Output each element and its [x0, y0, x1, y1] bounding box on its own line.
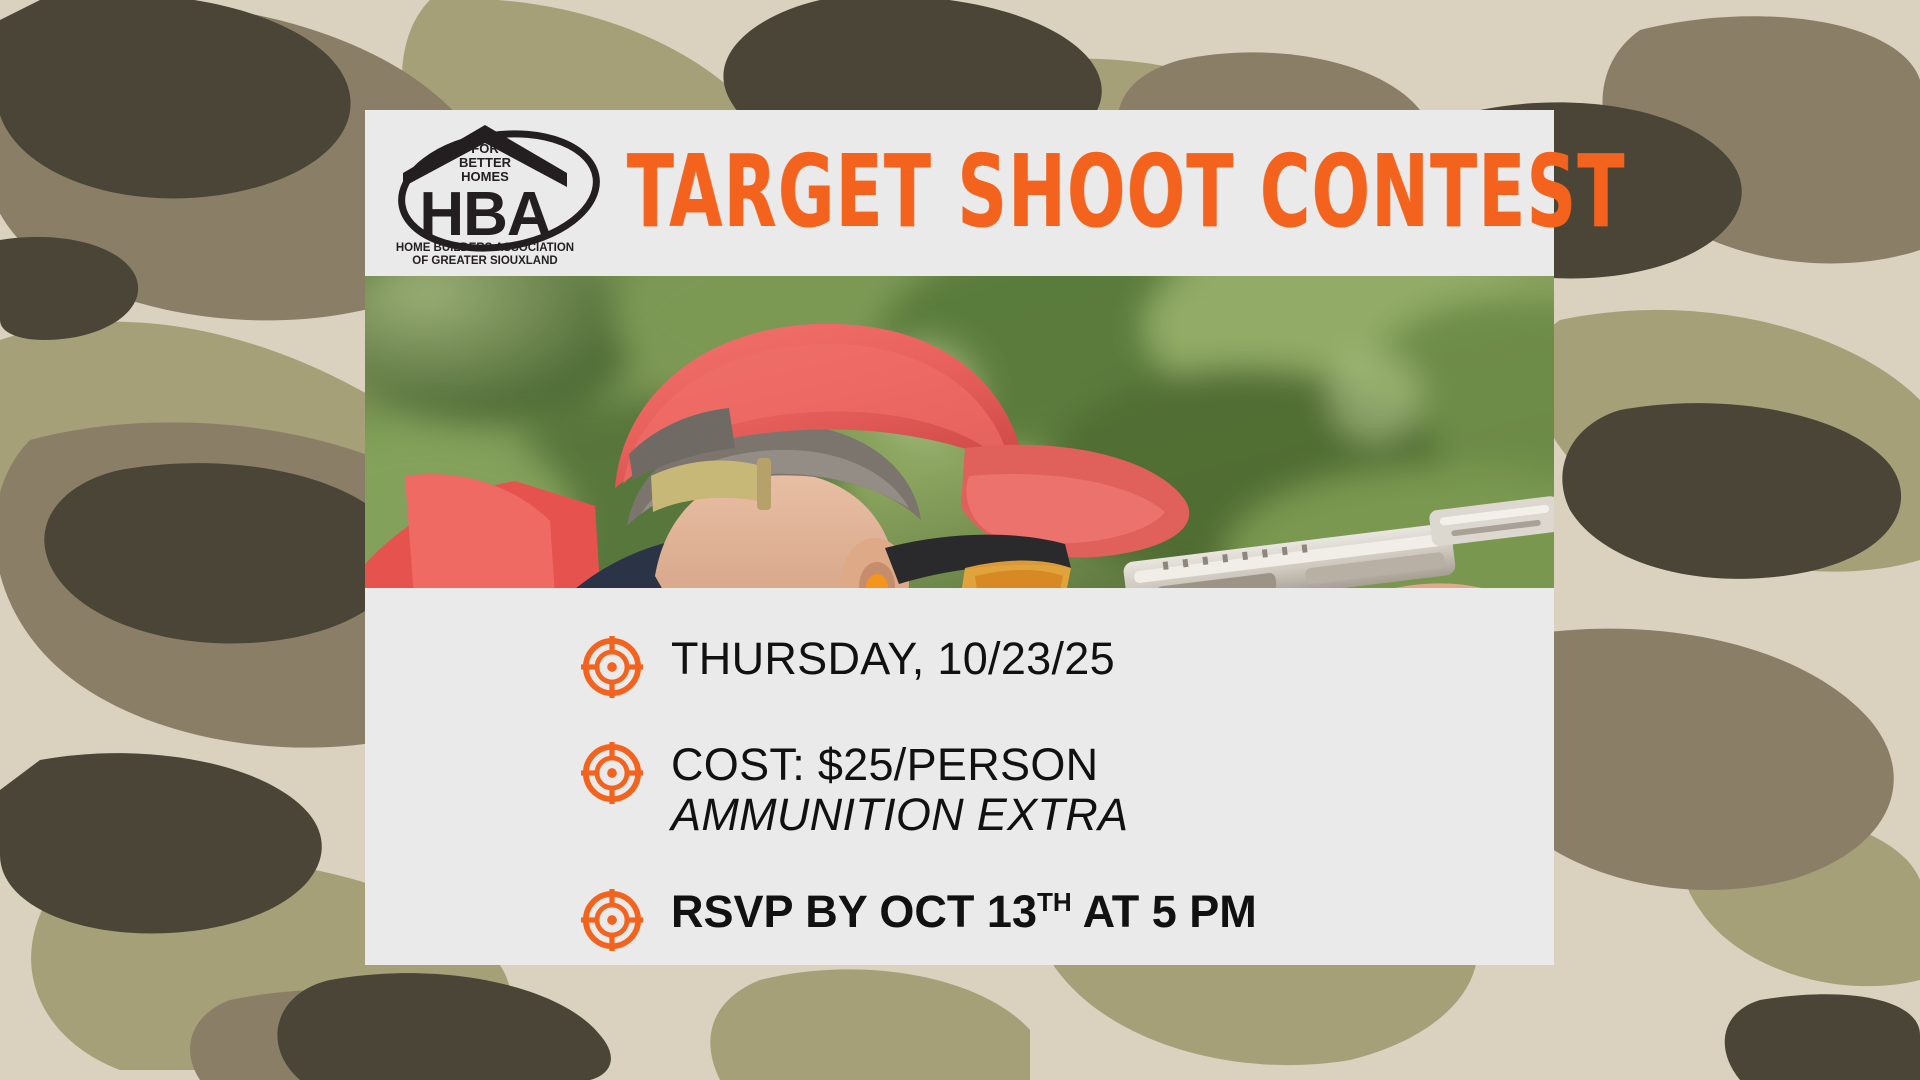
logo-tagline-line2: BETTER	[459, 155, 512, 170]
shooter-photo	[365, 276, 1554, 588]
detail-row-rsvp: RSVP BY OCT 13TH AT 5 PM	[581, 887, 1554, 951]
page-title: TARGET SHOOT CONTEST	[627, 143, 1626, 243]
detail-date: THURSDAY, 10/23/25	[671, 634, 1115, 684]
detail-rsvp: RSVP BY OCT 13TH AT 5 PM	[671, 887, 1257, 937]
detail-rsvp-text-before: RSVP BY OCT 13	[671, 886, 1037, 937]
logo-org-line1: HOME BUILDERS ASSOCIATION	[396, 242, 574, 254]
target-icon	[581, 889, 643, 951]
detail-ammunition-note: AMMUNITION EXTRA	[671, 790, 1128, 840]
detail-row-date: THURSDAY, 10/23/25	[581, 634, 1554, 698]
flyer-header: FOR BETTER HOMES HBA HOME BUILDERS ASSOC…	[365, 110, 1554, 276]
logo-tagline-line1: FOR	[471, 141, 499, 156]
hba-logo-icon: FOR BETTER HOMES HBA HOME BUILDERS ASSOC…	[381, 117, 609, 269]
detail-cost: COST: $25/PERSON	[671, 740, 1128, 790]
detail-rsvp-superscript: TH	[1037, 887, 1072, 917]
detail-rsvp-text-after: AT 5 PM	[1072, 886, 1257, 937]
logo-org-line2: OF GREATER SIOUXLAND	[412, 255, 557, 267]
target-icon	[581, 742, 643, 804]
hba-logo: FOR BETTER HOMES HBA HOME BUILDERS ASSOC…	[381, 117, 609, 269]
details-list: THURSDAY, 10/23/25 COST: $25/PERSON AMMU…	[365, 588, 1554, 965]
flyer-card: FOR BETTER HOMES HBA HOME BUILDERS ASSOC…	[365, 110, 1554, 965]
detail-row-cost: COST: $25/PERSON AMMUNITION EXTRA	[581, 740, 1554, 841]
logo-monogram: HBA	[419, 180, 551, 249]
target-icon	[581, 636, 643, 698]
